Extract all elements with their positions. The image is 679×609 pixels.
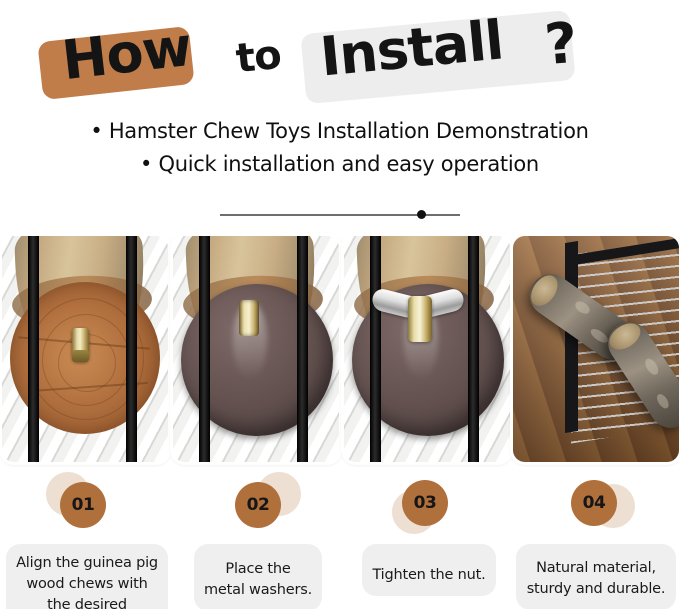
page-title: How to Install ?	[0, 8, 679, 108]
infographic-page: How to Install ? • Hamster Chew Toys Ins…	[0, 0, 679, 609]
wing-nut-body	[408, 296, 432, 342]
bullet-list: • Hamster Chew Toys Installation Demonst…	[0, 115, 679, 180]
step-badge-2: 02	[173, 470, 339, 538]
badge-circle: 02	[235, 482, 281, 528]
badge-circle: 01	[60, 482, 106, 528]
step-badge-4: 04	[513, 470, 679, 538]
step-photo-4	[513, 236, 679, 462]
badge-circle: 03	[402, 480, 448, 526]
title-question-mark: ?	[542, 11, 579, 78]
step-photo-1	[2, 236, 168, 462]
bullet-item-1: • Hamster Chew Toys Installation Demonst…	[0, 115, 679, 148]
bark-spot	[573, 299, 592, 316]
step-caption-2: Place the metal washers.	[194, 544, 322, 609]
title-word-to: to	[234, 32, 283, 82]
badge-circle: 04	[571, 480, 617, 526]
photo-logs-installed	[513, 236, 679, 462]
cage-bar-right	[126, 236, 137, 462]
step-caption-3: Tighten the nut.	[362, 544, 496, 596]
bolt-tip	[72, 350, 89, 362]
bark-spot	[643, 356, 661, 377]
photo-wing-nut-tightened	[344, 236, 510, 462]
step-photo-row	[0, 236, 679, 462]
step-number-label: 04	[583, 493, 606, 513]
bolt-through-washer	[239, 300, 259, 336]
section-divider	[0, 206, 679, 222]
step-photo-3	[344, 236, 510, 462]
title-word-how: How	[59, 15, 194, 92]
step-caption-1: Align the guinea pig wood chews with the…	[6, 544, 168, 609]
cage-bar-left	[199, 236, 210, 462]
step-caption-row: Align the guinea pig wood chews with the…	[0, 544, 679, 609]
bark-spot	[655, 392, 671, 410]
divider-dot	[417, 210, 426, 219]
cage-bar-right	[468, 236, 479, 462]
step-caption-4: Natural material, sturdy and durable.	[516, 544, 676, 609]
title-word-install: Install	[317, 8, 505, 88]
photo-log-with-bolt	[2, 236, 168, 462]
step-number-row: 01 02 03 04	[0, 470, 679, 540]
photo-washer-placed	[173, 236, 339, 462]
cage-bar-left	[370, 236, 381, 462]
step-photo-2	[173, 236, 339, 462]
cage-bar-right	[297, 236, 308, 462]
step-number-label: 03	[414, 493, 437, 513]
cage-bar-left	[28, 236, 39, 462]
step-badge-3: 03	[344, 470, 510, 538]
brass-bolt	[72, 328, 89, 362]
bullet-item-2: • Quick installation and easy operation	[0, 148, 679, 181]
step-number-label: 01	[72, 495, 95, 515]
step-number-label: 02	[247, 495, 270, 515]
step-badge-1: 01	[2, 470, 168, 538]
